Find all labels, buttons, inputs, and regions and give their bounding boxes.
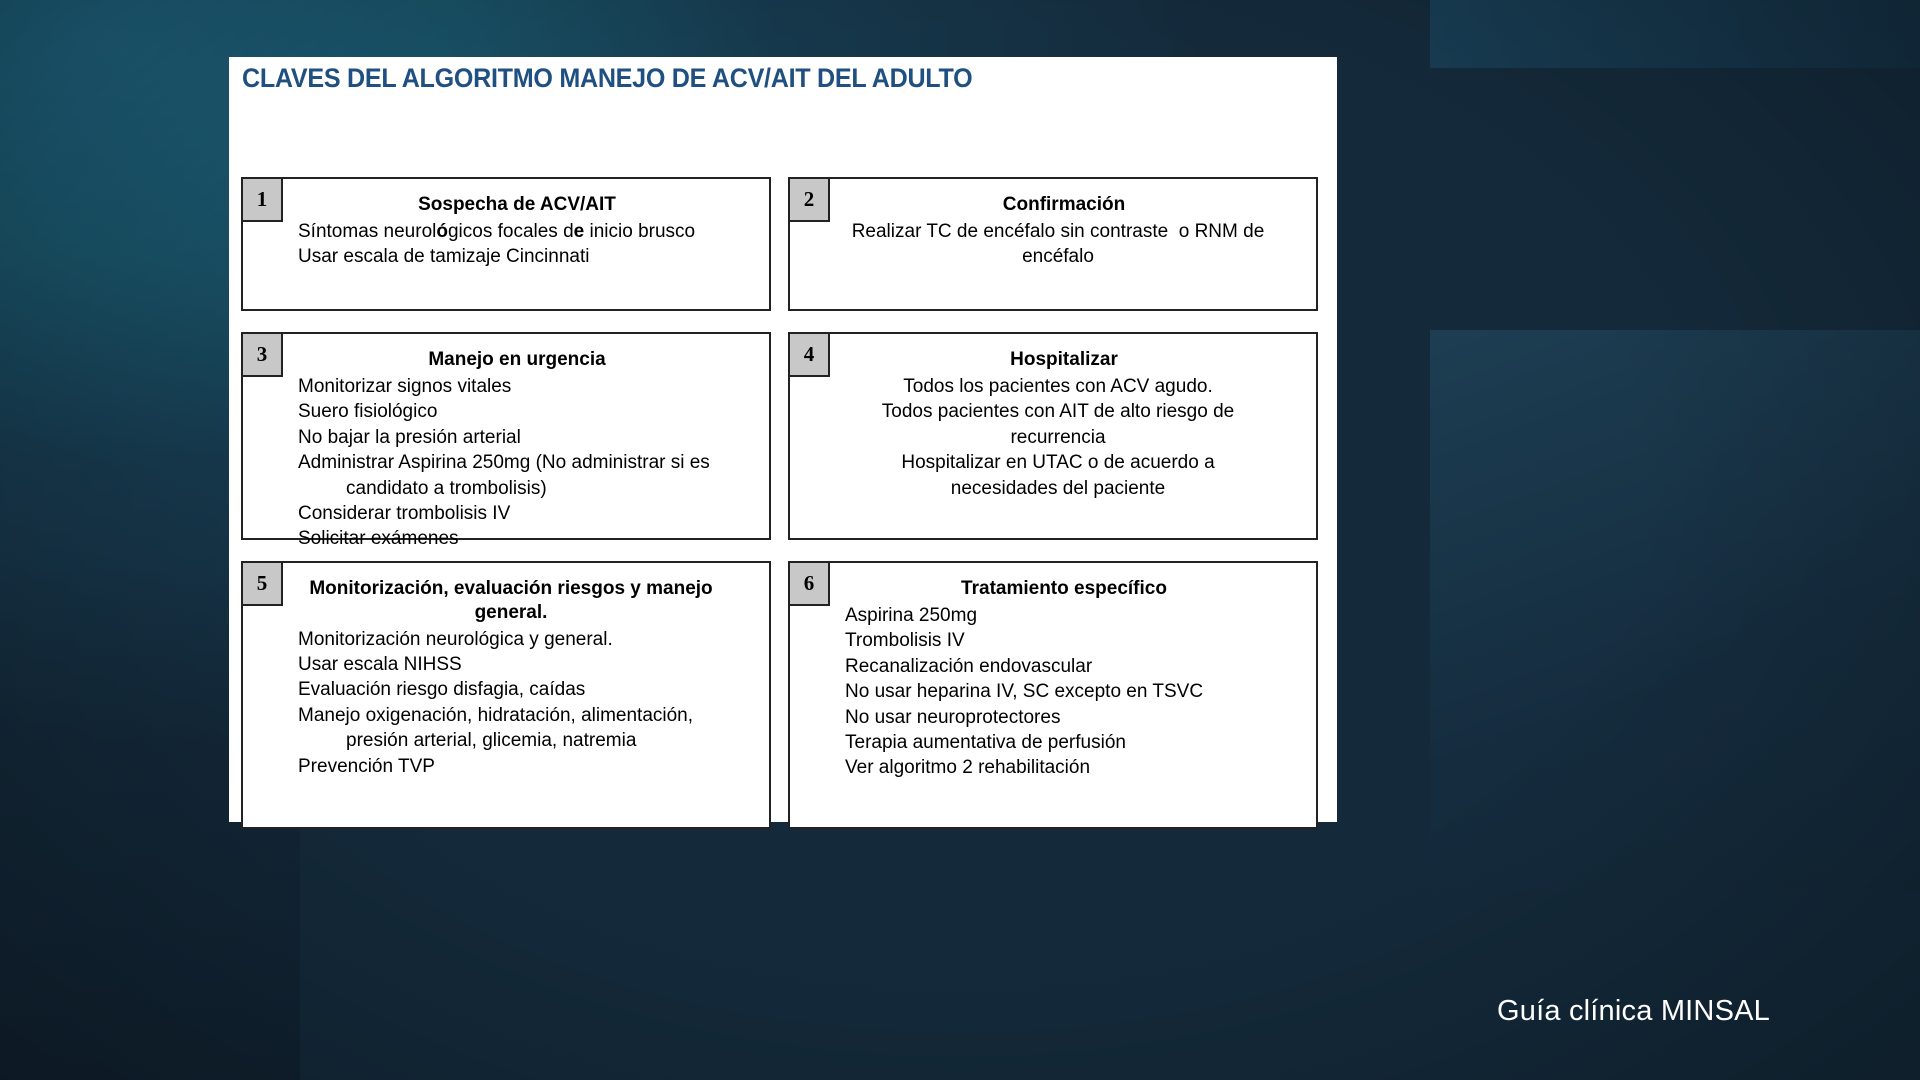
box-line: Monitorización neurológica y general. [298, 627, 753, 652]
algorithm-box-1[interactable]: 1 Sospecha de ACV/AIT Síntomas neurológi… [241, 177, 771, 311]
algorithm-box-4[interactable]: 4 Hospitalizar Todos los pacientes con A… [788, 332, 1318, 540]
box-cell-2: 2 Confirmación Realizar TC de encéfalo s… [788, 177, 1318, 311]
box-cell-1: 1 Sospecha de ACV/AIT Síntomas neurológi… [241, 177, 771, 311]
box-line: Administrar Aspirina 250mg (No administr… [298, 450, 753, 501]
box-line: Aspirina 250mg [845, 603, 1300, 628]
box-line: Manejo oxigenación, hidratación, aliment… [298, 703, 753, 754]
box-line: Suero fisiológico [298, 399, 753, 424]
algorithm-box-6[interactable]: 6 Tratamiento específico Aspirina 250mg … [788, 561, 1318, 829]
step-number-badge: 1 [241, 177, 283, 222]
box-row-2: 3 Manejo en urgencia Monitorizar signos … [241, 332, 1327, 540]
step-number-badge: 5 [241, 561, 283, 606]
box-title: Tratamiento específico [802, 577, 1304, 601]
box-body-1: Síntomas neurológicos focales de inicio … [255, 219, 757, 270]
box-line: Evaluación riesgo disfagia, caídas [298, 677, 753, 702]
box-cell-5: 5 Monitorización, evaluación riesgos y m… [241, 561, 771, 829]
box-body-6: Aspirina 250mg Trombolisis IV Recanaliza… [802, 603, 1304, 781]
box-body-3: Monitorizar signos vitales Suero fisioló… [255, 374, 757, 552]
box-title: Manejo en urgencia [255, 348, 757, 372]
box-cell-6: 6 Tratamiento específico Aspirina 250mg … [788, 561, 1318, 829]
algorithm-box-5[interactable]: 5 Monitorización, evaluación riesgos y m… [241, 561, 771, 829]
algorithm-box-grid: 1 Sospecha de ACV/AIT Síntomas neurológi… [241, 177, 1327, 850]
box-line: No usar heparina IV, SC excepto en TSVC [845, 679, 1300, 704]
box-line: Monitorizar signos vitales [298, 374, 753, 399]
box-line: Prevención TVP [298, 754, 753, 779]
box-line: Recanalización endovascular [845, 654, 1300, 679]
box-line: Todos los pacientes con ACV agudo. [830, 374, 1286, 399]
step-number-badge: 3 [241, 332, 283, 377]
box-line: Considerar trombolisis IV [298, 501, 753, 526]
box-body-5: Monitorización neurológica y general. Us… [255, 627, 757, 780]
source-caption: Guía clínica MINSAL [1497, 995, 1770, 1028]
step-number-badge: 2 [788, 177, 830, 222]
box-line: Síntomas neurológicos focales de inicio … [298, 219, 753, 244]
box-row-3: 5 Monitorización, evaluación riesgos y m… [241, 561, 1327, 829]
slide-content-card: CLAVES DEL ALGORITMO MANEJO DE ACV/AIT D… [229, 57, 1337, 822]
box-cell-3: 3 Manejo en urgencia Monitorizar signos … [241, 332, 771, 540]
box-line: Hospitalizar en UTAC o de acuerdo aneces… [830, 450, 1286, 501]
box-body-4: Todos los pacientes con ACV agudo. Todos… [802, 374, 1304, 501]
box-line: Realizar TC de encéfalo sin contraste o … [830, 219, 1286, 270]
box-line: Todos pacientes con AIT de alto riesgo d… [830, 399, 1286, 450]
box-line: No bajar la presión arterial [298, 425, 753, 450]
box-cell-4: 4 Hospitalizar Todos los pacientes con A… [788, 332, 1318, 540]
box-line: Ver algoritmo 2 rehabilitación [845, 755, 1300, 780]
step-number-badge: 4 [788, 332, 830, 377]
page-title: CLAVES DEL ALGORITMO MANEJO DE ACV/AIT D… [242, 63, 972, 94]
box-row-1: 1 Sospecha de ACV/AIT Síntomas neurológi… [241, 177, 1327, 311]
box-body-2: Realizar TC de encéfalo sin contraste o … [802, 219, 1304, 270]
step-number-badge: 6 [788, 561, 830, 606]
box-title: Monitorización, evaluación riesgos y man… [255, 577, 757, 625]
box-line: Usar escala NIHSS [298, 652, 753, 677]
box-line: Terapia aumentativa de perfusión [845, 730, 1300, 755]
box-title: Sospecha de ACV/AIT [255, 193, 757, 217]
box-line: No usar neuroprotectores [845, 705, 1300, 730]
box-line: Solicitar exámenes [298, 526, 753, 551]
algorithm-box-2[interactable]: 2 Confirmación Realizar TC de encéfalo s… [788, 177, 1318, 311]
box-title: Confirmación [802, 193, 1304, 217]
algorithm-box-3[interactable]: 3 Manejo en urgencia Monitorizar signos … [241, 332, 771, 540]
box-title: Hospitalizar [802, 348, 1304, 372]
box-line: Usar escala de tamizaje Cincinnati [298, 244, 753, 269]
box-line: Trombolisis IV [845, 628, 1300, 653]
